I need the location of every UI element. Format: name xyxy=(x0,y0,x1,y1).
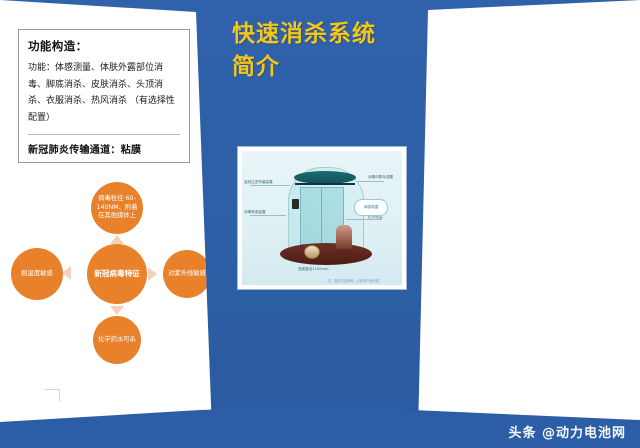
slide-title: 快速消杀系统 简介 xyxy=(232,18,412,85)
booth-top-bar xyxy=(295,183,355,185)
arrow-down-icon xyxy=(110,306,124,315)
diagram-node-right: 对紫外线敏感 xyxy=(163,250,211,298)
slide-canvas: 功能构造： 功能：体感测量、体肤外露部位消毒、脚底消杀、皮肤消杀、头顶消杀、衣服… xyxy=(0,0,640,448)
function-structure-box: 功能构造： 功能：体感测量、体肤外露部位消毒、脚底消杀、皮肤消杀、头顶消杀、衣服… xyxy=(18,29,190,163)
callout-line-top-right xyxy=(358,181,384,182)
arrow-up-icon xyxy=(110,235,124,244)
booth-control-panel xyxy=(292,199,299,209)
booth-person-figure xyxy=(336,225,352,249)
booth-base-platform xyxy=(280,243,372,265)
callout-label-top-left: 高效过滤杀菌装置 xyxy=(244,180,273,185)
right-panel: 本机原理 脚底消杀 温度消杀 （根据配置） 雾化喷淋、雾化杀毒 紫外消杀装置 人… xyxy=(414,0,640,448)
arrow-left-icon xyxy=(62,266,71,280)
slide-title-line2: 简介 xyxy=(232,51,412,84)
speech-bubble: 体感测温 xyxy=(354,199,388,216)
left-panel: 功能构造： 功能：体感测量、体肤外露部位消毒、脚底消杀、皮肤消杀、头顶消杀、衣服… xyxy=(0,0,218,448)
diagram-node-center: 新冠病毒特征 xyxy=(87,244,147,304)
callout-line-top-left xyxy=(250,185,290,186)
function-structure-title: 功能构造： xyxy=(28,38,180,54)
photo-footer-note: 注：图片仅供参考，以实际产品为准 xyxy=(328,279,379,283)
corner-crop-mark xyxy=(45,389,60,402)
diagram-node-bottom: 化学药水可杀 xyxy=(93,316,141,364)
diagram-node-top: 病毒粒径 60-140NM、附着在其他媒体上 xyxy=(91,182,143,234)
disinfection-booth-illustration: 高效过滤杀菌装置 消毒喷淋装置 消毒剂雾化装置 红外测温 底座直径1100mm … xyxy=(242,151,402,285)
transmission-channel-label: 新冠肺炎传输通道：粘膜 xyxy=(28,141,180,156)
virus-characteristics-diagram: 病毒粒径 60-140NM、附着在其他媒体上 新冠病毒特征 耐温度敏感 对紫外线… xyxy=(0,182,205,377)
booth-pet-figure xyxy=(304,245,320,259)
arrow-right-icon xyxy=(148,267,157,281)
diagram-node-left: 耐温度敏感 xyxy=(11,248,63,300)
callout-label-top-right: 消毒剂雾化装置 xyxy=(368,175,393,180)
function-box-divider xyxy=(28,134,180,135)
function-structure-body: 功能：体感测量、体肤外露部位消毒、脚底消杀、皮肤消杀、头顶消杀、衣服消杀、热风消… xyxy=(28,60,180,127)
callout-line-mid-left xyxy=(250,215,286,216)
watermark-text: 头条 @动力电池网 xyxy=(508,422,626,441)
product-photo-frame: 高效过滤杀菌装置 消毒喷淋装置 消毒剂雾化装置 红外测温 底座直径1100mm … xyxy=(238,147,406,289)
callout-label-bottom: 底座直径1100mm xyxy=(298,267,329,272)
slide-title-line1: 快速消杀系统 xyxy=(232,18,412,51)
callout-label-mid-left: 消毒喷淋装置 xyxy=(244,210,266,215)
